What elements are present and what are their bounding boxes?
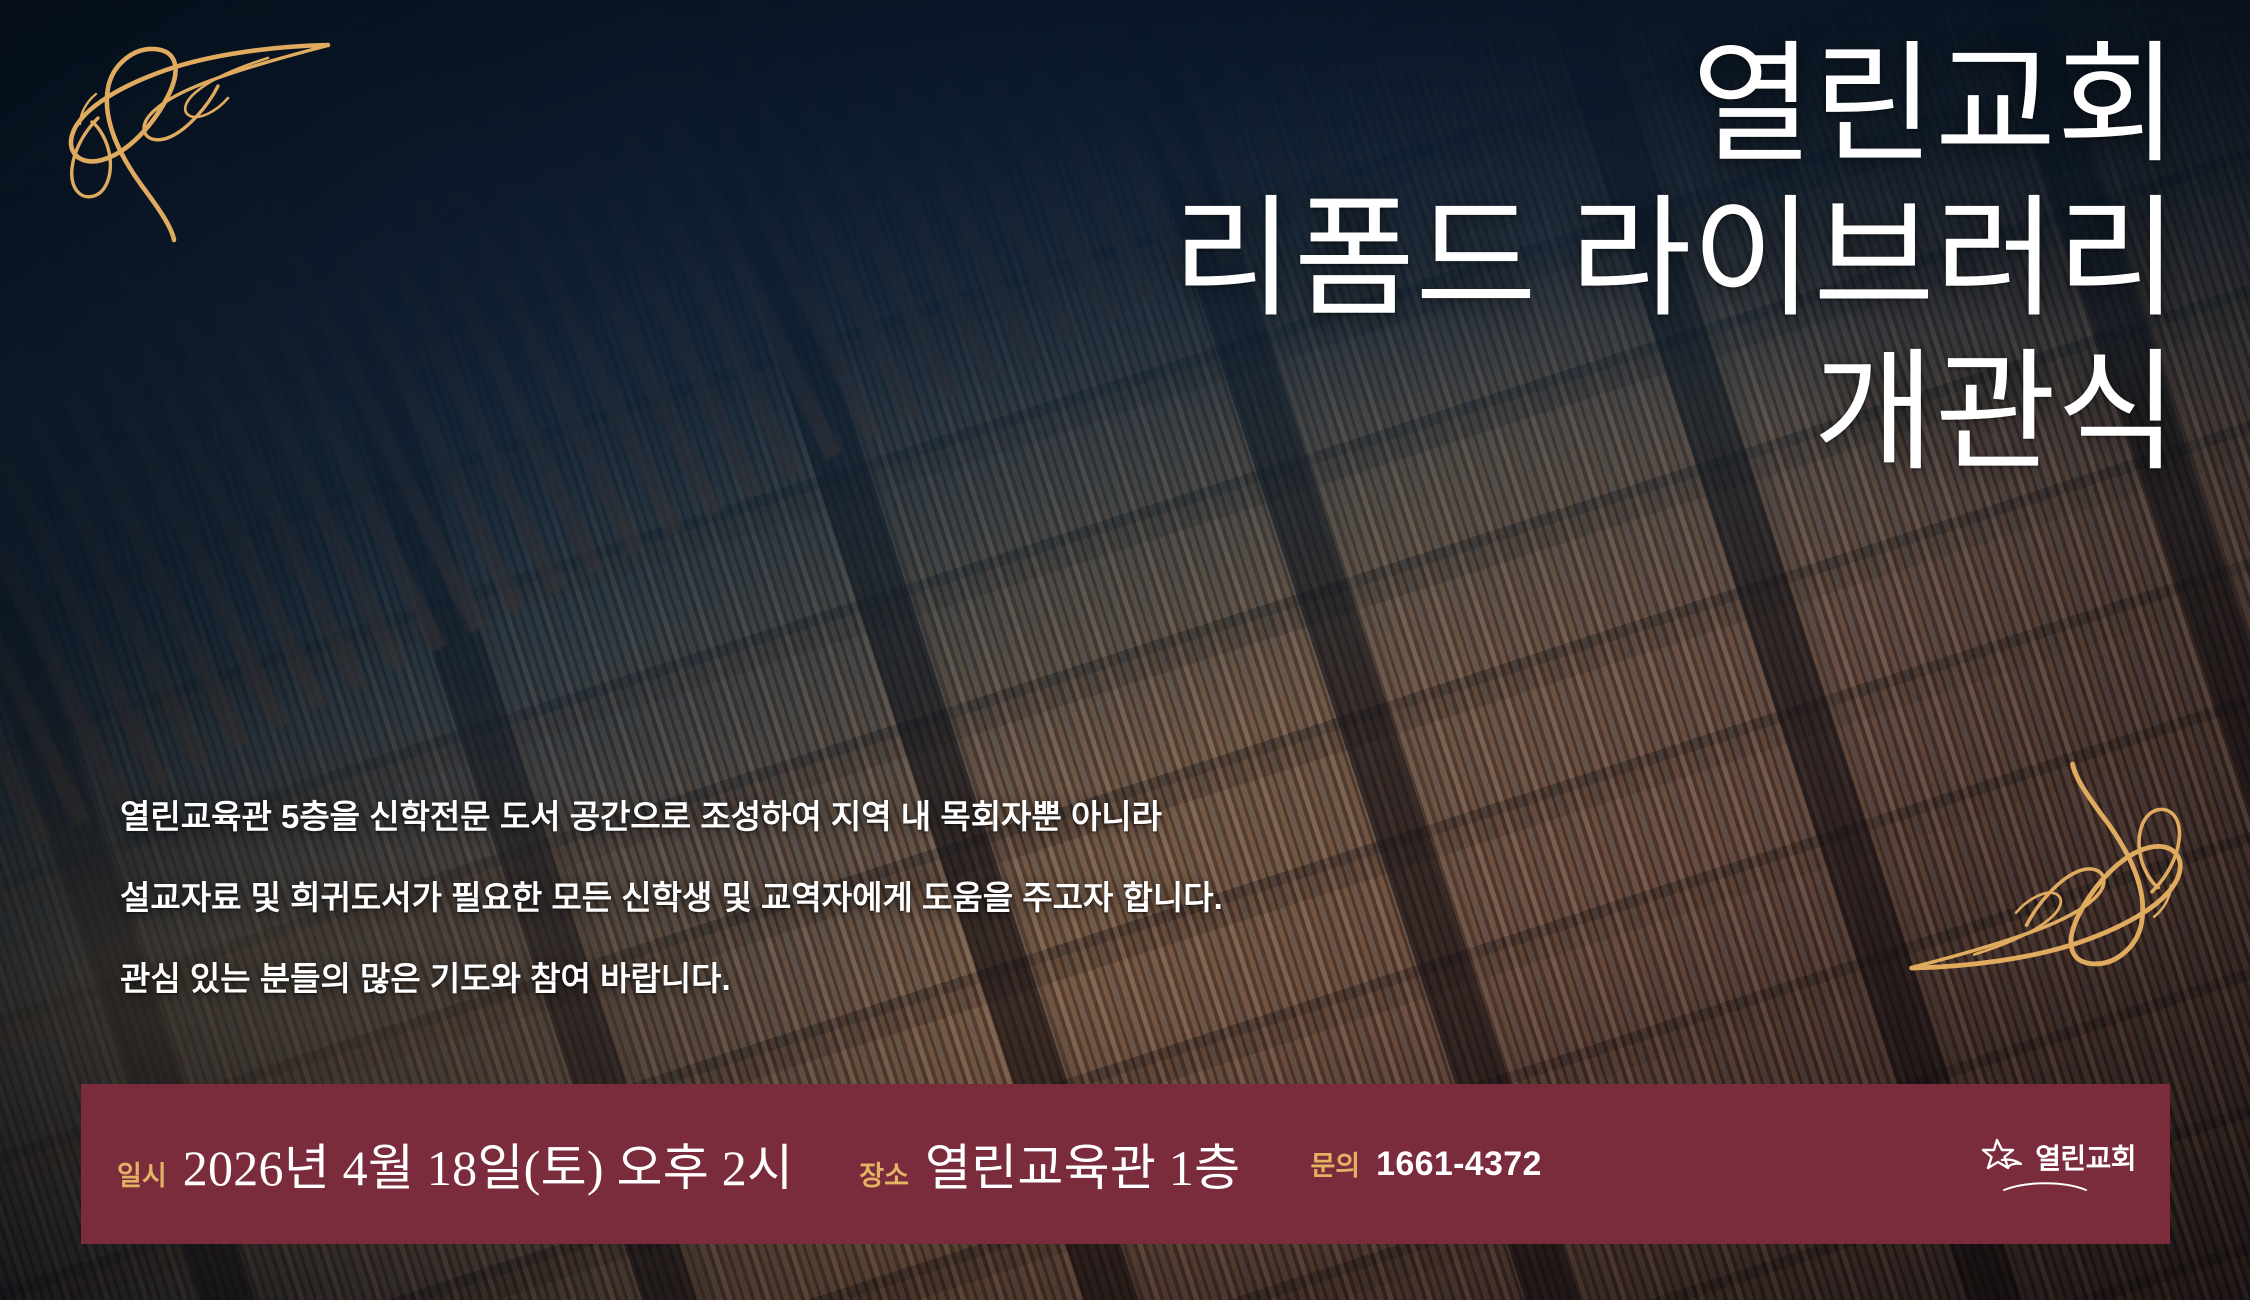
event-place-label: 장소 (859, 1154, 909, 1193)
event-date-group: 일시 2026년 4월 18일(토) 오후 2시 (117, 1128, 793, 1200)
event-place-value: 열린교육관 1층 (925, 1128, 1241, 1200)
body-paragraph-3: 관심 있는 분들의 많은 기도와 참여 바랍니다. (120, 962, 1640, 995)
poster-body-copy: 열린교육관 5층을 신학전문 도서 공간으로 조성하여 지역 내 목회자뿐 아니… (120, 800, 1640, 995)
headline-line-3: 개관식 (1172, 348, 2178, 480)
headline-line-2: 리폼드 라이브러리 (1172, 194, 2178, 326)
star-swoosh-icon (1977, 1136, 2035, 1182)
event-contact-group: 문의 1661-4372 (1310, 1144, 1541, 1184)
event-date-label: 일시 (117, 1154, 167, 1193)
event-info-bar: 일시 2026년 4월 18일(토) 오후 2시 장소 열린교육관 1층 문의 … (81, 1084, 2170, 1244)
event-contact-label: 문의 (1310, 1144, 1360, 1183)
poster-root: 열린교회 리폼드 라이브러리 개관식 열린교육관 5층을 신학전문 도서 공간으… (0, 0, 2250, 1300)
event-date-value: 2026년 4월 18일(토) 오후 2시 (183, 1128, 794, 1200)
church-logo-row: 열린교회 (1977, 1136, 2136, 1182)
body-paragraph-1: 열린교육관 5층을 신학전문 도서 공간으로 조성하여 지역 내 목회자뿐 아니… (120, 800, 1640, 833)
church-logo-text: 열린교회 (2035, 1145, 2136, 1173)
headline-line-1: 열린교회 (1172, 40, 2178, 172)
event-contact-value: 1661-4372 (1376, 1145, 1542, 1184)
logo-arc-icon (2002, 1180, 2088, 1192)
event-place-group: 장소 열린교육관 1층 (859, 1128, 1240, 1200)
body-paragraph-2: 설교자료 및 희귀도서가 필요한 모든 신학생 및 교역자에게 도움을 주고자 … (120, 881, 1640, 914)
church-logo: 열린교회 (1977, 1136, 2136, 1192)
poster-headline: 열린교회 리폼드 라이브러리 개관식 (1172, 40, 2178, 480)
